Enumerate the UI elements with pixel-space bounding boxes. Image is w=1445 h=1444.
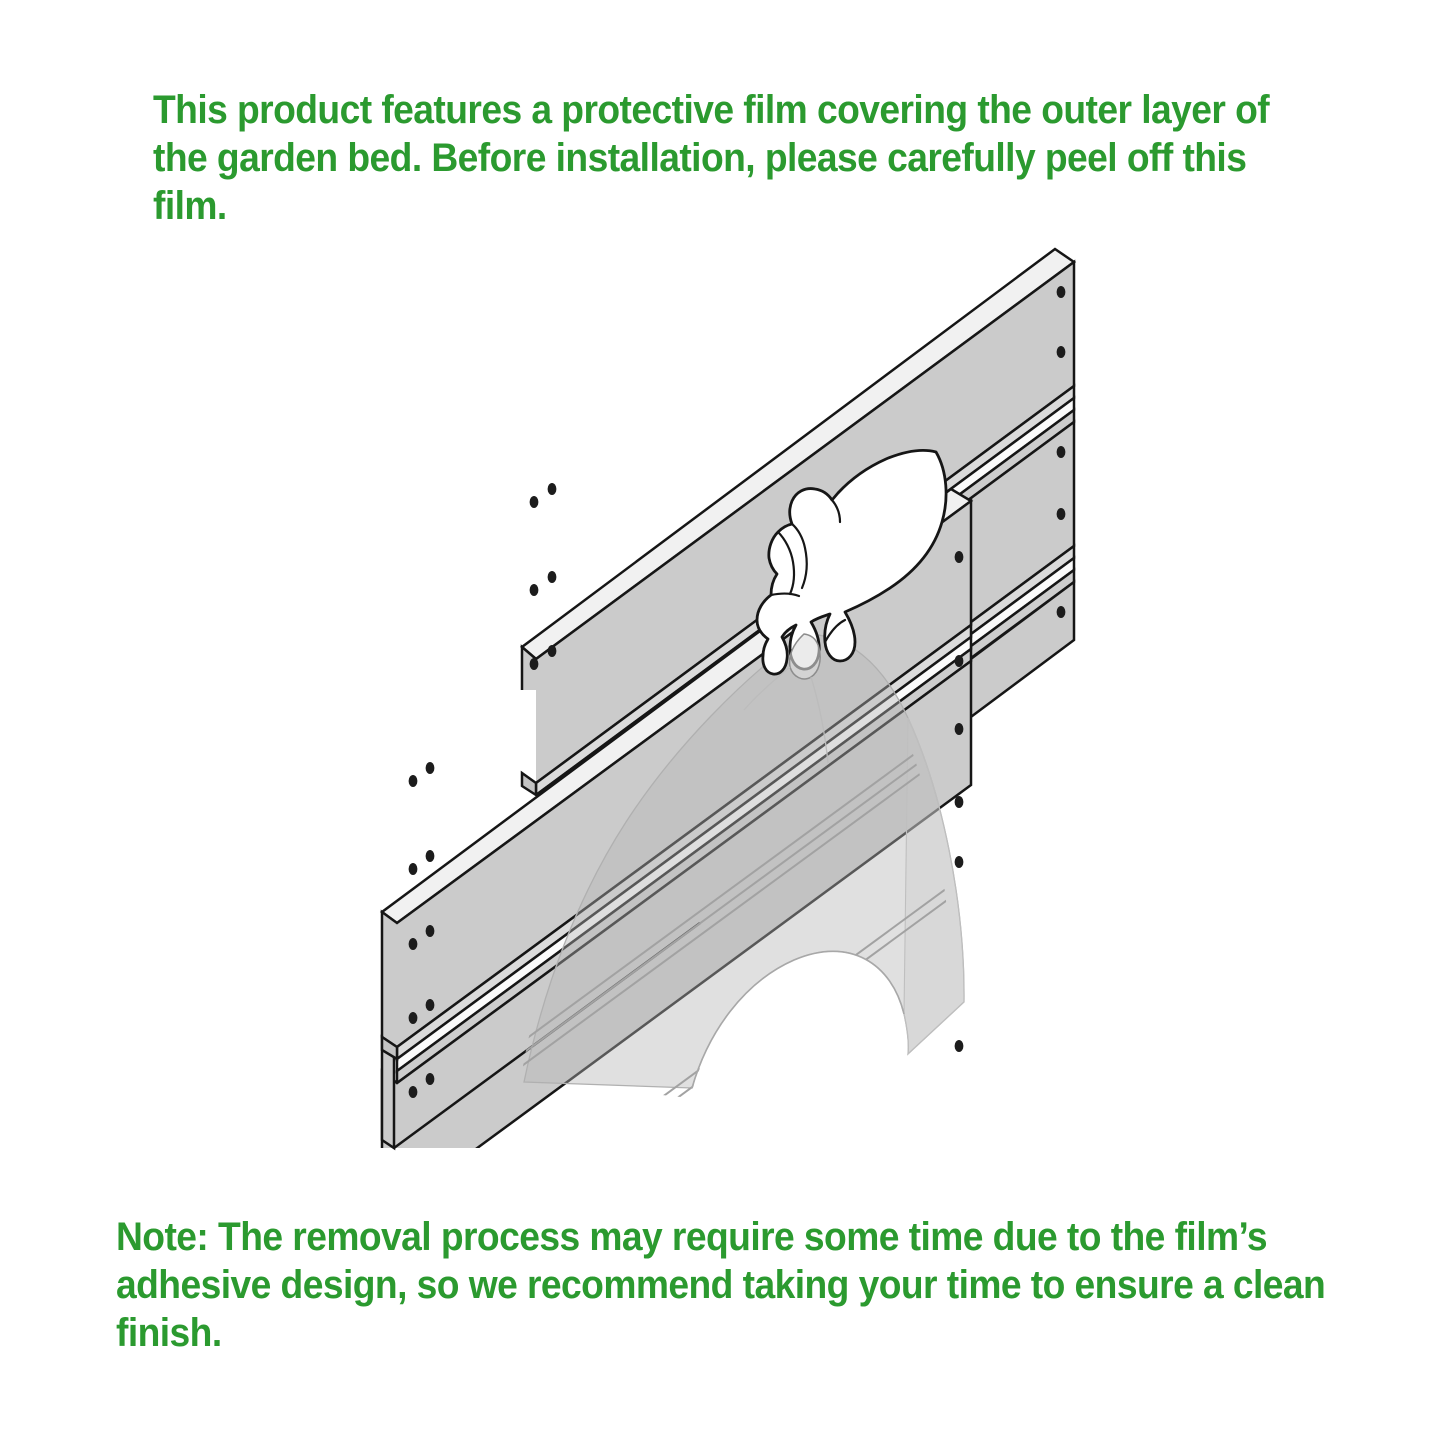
screenshot-root: This product features a protective film … [0,0,1445,1444]
bottom-note-text: Note: The removal process may require so… [116,1213,1344,1357]
top-instruction-text: This product features a protective film … [153,86,1316,230]
